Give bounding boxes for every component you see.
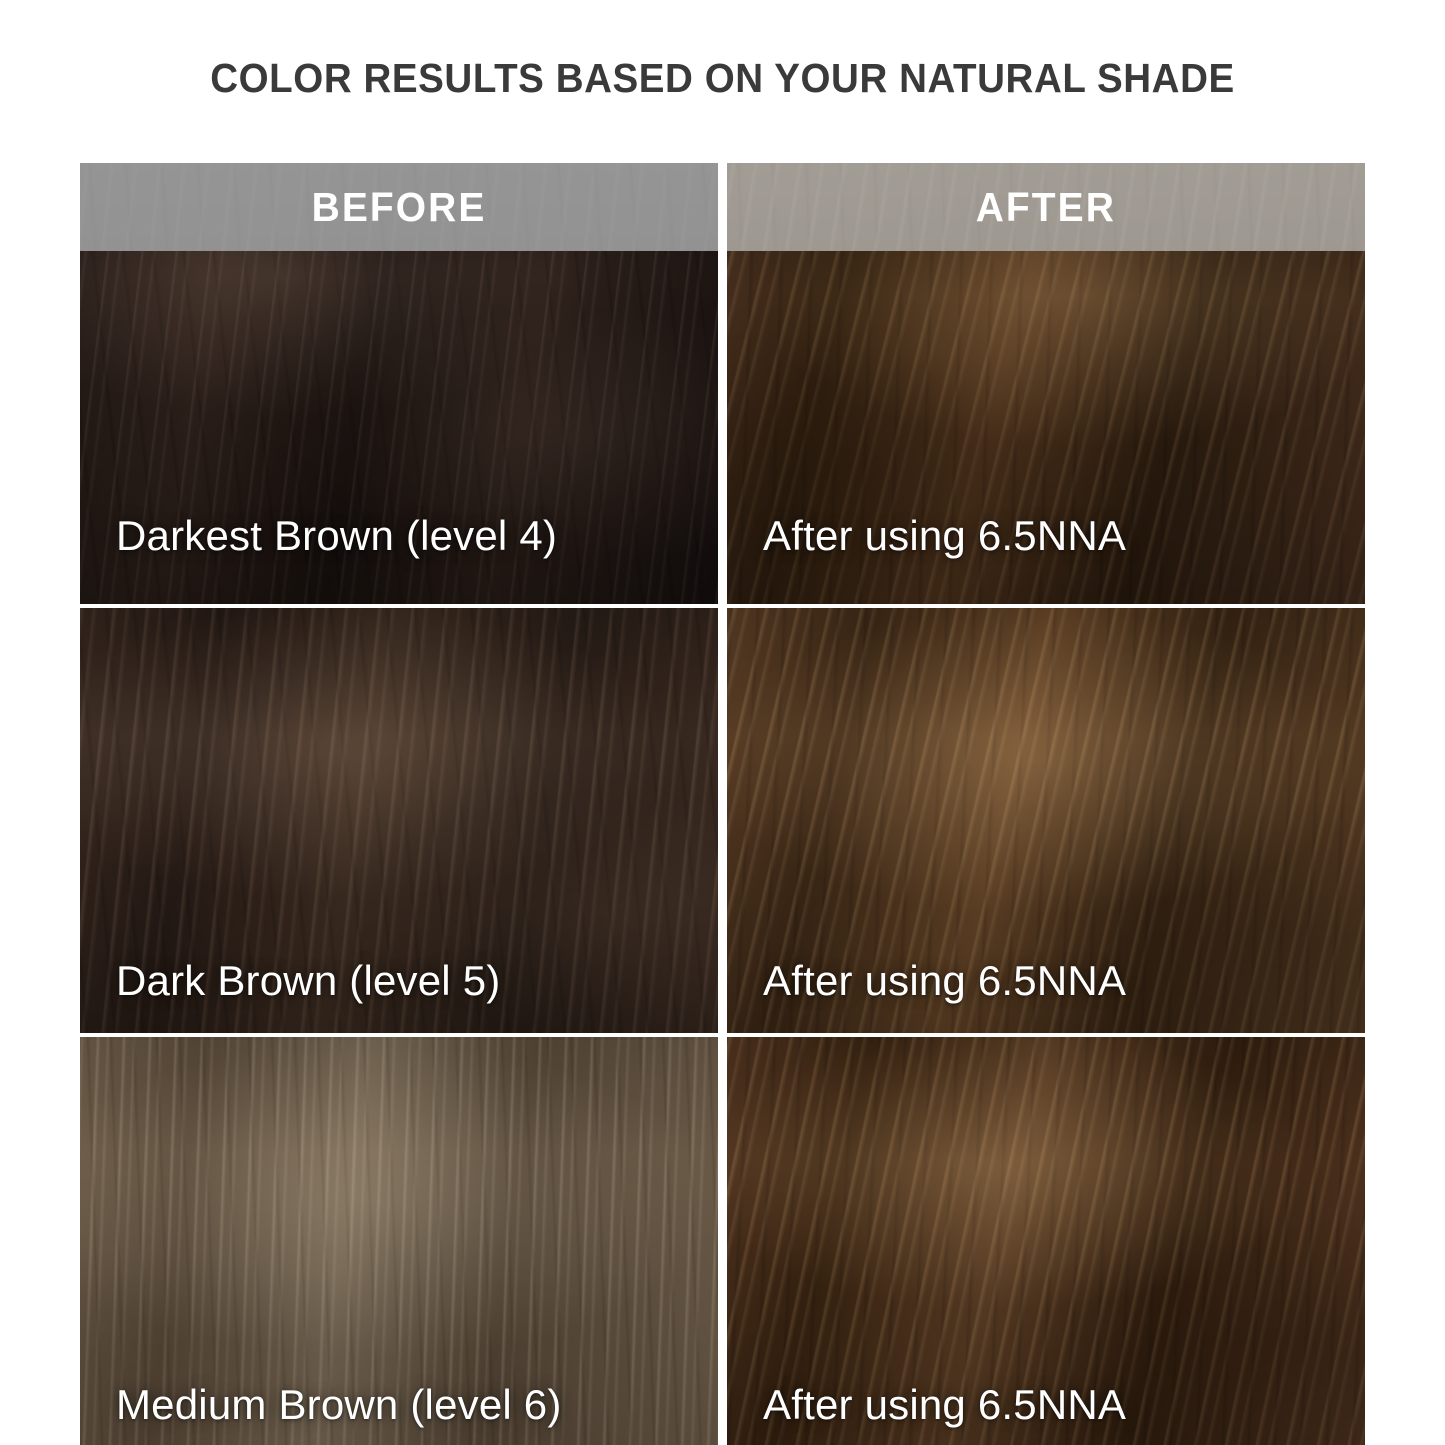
color-results-infographic: COLOR RESULTS BASED ON YOUR NATURAL SHAD… [0,0,1445,1445]
cell-after-row-3[interactable]: After using 6.5NNA [727,1037,1365,1445]
caption-before-row-3: Medium Brown (level 6) [116,1381,562,1429]
before-after-grid: BEFORE Darkest Brown (level 4) Dark Brow… [80,163,1365,1445]
caption-after-row-3: After using 6.5NNA [763,1381,1126,1429]
cell-before-row-1[interactable]: BEFORE Darkest Brown (level 4) [80,163,718,604]
column-before: BEFORE Darkest Brown (level 4) Dark Brow… [80,163,718,1445]
caption-after-row-2: After using 6.5NNA [763,957,1126,1005]
header-label-after: AFTER [976,184,1116,231]
header-label-before: BEFORE [312,184,487,231]
cell-before-row-3[interactable]: Medium Brown (level 6) [80,1037,718,1445]
caption-before-row-1: Darkest Brown (level 4) [116,512,557,560]
cell-after-row-2[interactable]: After using 6.5NNA [727,608,1365,1033]
cell-before-row-2[interactable]: Dark Brown (level 5) [80,608,718,1033]
caption-after-row-1: After using 6.5NNA [763,512,1126,560]
caption-before-row-2: Dark Brown (level 5) [116,957,500,1005]
column-after: AFTER After using 6.5NNA After using 6.5… [727,163,1365,1445]
header-band-after: AFTER [727,163,1365,251]
page-title: COLOR RESULTS BASED ON YOUR NATURAL SHAD… [43,52,1401,104]
header-band-before: BEFORE [80,163,718,251]
cell-after-row-1[interactable]: AFTER After using 6.5NNA [727,163,1365,604]
